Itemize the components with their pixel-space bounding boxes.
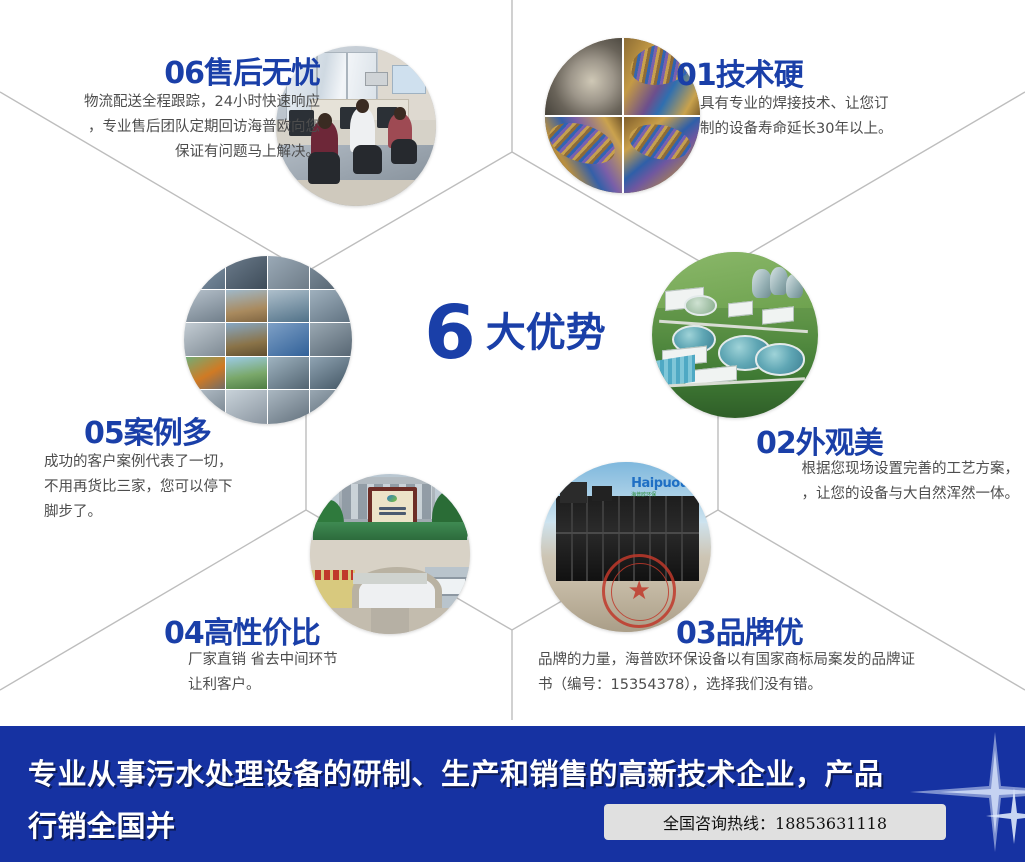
advantage-01-title: 01技术硬 [676, 50, 1006, 94]
advantage-03-body: 品牌的力量，海普欧环保设备以有国家商标局案发的品牌证 书（编号：15354378… [538, 648, 1018, 698]
banner-line-2: 远销欧美，山东省重点扶持的环保设备企业。 [28, 852, 908, 862]
sparkle-icon-small [986, 788, 1025, 844]
photo-aerial-plant [652, 252, 818, 418]
advantage-05-title: 05案例多 [84, 408, 384, 452]
photo-black-tank-equipment: Haipuou 海普欧环保 ★ [541, 462, 711, 632]
haipuou-logo-sub: 海普欧环保 [631, 491, 699, 498]
advantage-04-body: 厂家直销 省去中间环节 让利客户。 [188, 648, 518, 698]
hotline-number: 18853631118 [775, 814, 887, 833]
advantage-02-title: 02外观美 [756, 418, 1016, 462]
advantage-01-body: 具有专业的焊接技术、让您订 制的设备寿命延长30年以上。 [700, 92, 1020, 142]
hotline-text: 全国咨询热线：18853631118 [663, 810, 887, 834]
advantage-06-body: 物流配送全程跟踪，24小时快速响应 ，专业售后团队定期回访海普欧向您 保证有问题… [0, 90, 320, 165]
trademark-stamp: ★ [602, 554, 676, 628]
haipuou-logo-text: Haipuou [631, 476, 699, 491]
advantage-05-body: 成功的客户案例代表了一切， 不用再货比三家，您可以停下 脚步了。 [44, 450, 344, 525]
center-label: 6 大优势 [400, 288, 630, 378]
advantage-02-body: 根据您现场设置完善的工艺方案， ，让您的设备与大自然浑然一体。 [704, 457, 1019, 507]
center-number: 6 [424, 296, 476, 370]
bottom-banner: 专业从事污水处理设备的研制、生产和销售的高新技术企业，产品行销全国并 远销欧美，… [0, 726, 1025, 862]
photo-project-cases-collage [184, 256, 352, 424]
advantages-infographic: Haipuou 海普欧环保 ★ [0, 0, 1025, 862]
hotline-box[interactable]: 全国咨询热线：18853631118 [604, 804, 946, 840]
hotline-label: 全国咨询热线： [663, 814, 775, 833]
center-word: 大优势 [486, 310, 606, 356]
advantage-04-title: 04高性价比 [164, 608, 464, 652]
haipuou-logo-watermark: Haipuou 海普欧环保 [631, 476, 699, 496]
advantage-03-title: 03品牌优 [676, 608, 956, 652]
advantage-06-title: 06售后无忧 [0, 48, 320, 92]
